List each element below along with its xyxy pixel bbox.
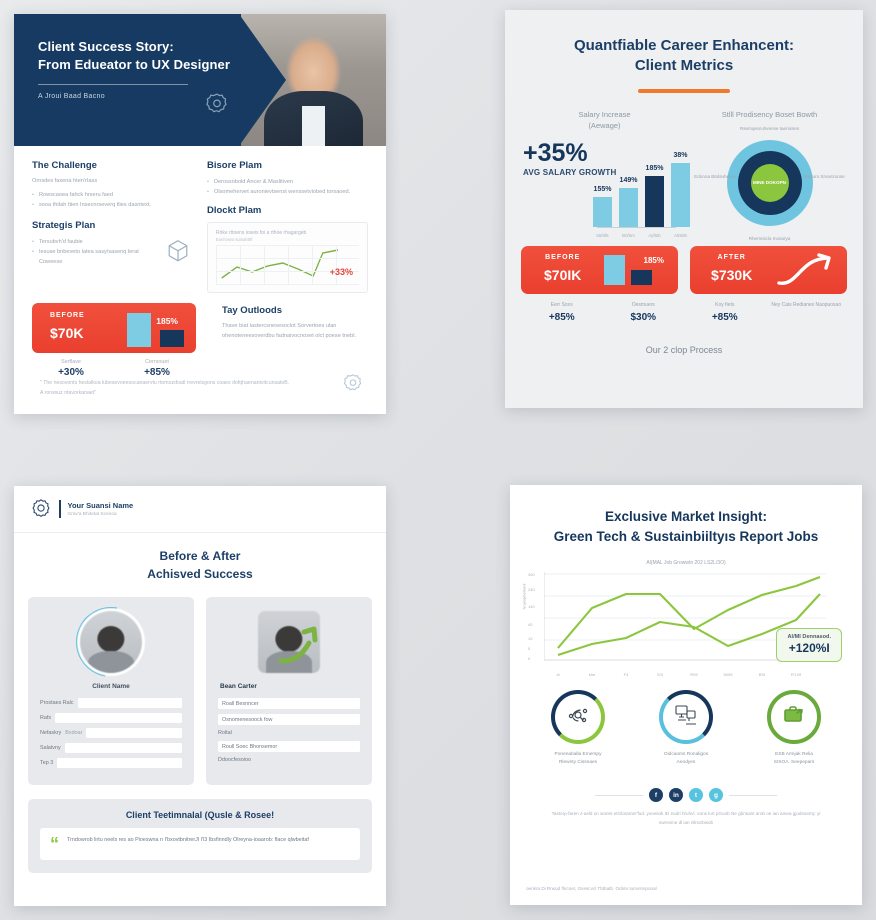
feature-label: ESB Armjak Relia SISOA. Seepepars	[749, 751, 839, 766]
kpi-value: +85%	[521, 312, 603, 323]
growth-arrow-icon	[775, 253, 837, 294]
ring-navy-sky	[659, 690, 713, 744]
x-tick: khe	[589, 672, 595, 677]
kpi-label: Serflave	[32, 359, 110, 365]
tr-metrics-grid: Salary Increase (Aewage) +35% AVG SALARY…	[505, 93, 863, 232]
red-card-bar-dark	[160, 330, 184, 347]
before-plan-heading: Bisore Plam	[207, 160, 368, 171]
bl-page-title: Before & After Achisved Success	[14, 533, 386, 583]
form-row[interactable]: Prostaes Ralc	[40, 698, 182, 708]
profile-name: Client Name	[40, 683, 182, 690]
tr-kpi-row: Eerr Sces +85% Oesmuers $30% Koy fiets +…	[505, 294, 863, 323]
chart-grid	[216, 245, 359, 285]
before-card-percent: 185%	[644, 256, 664, 265]
badge-icon	[30, 498, 52, 520]
feature-label: Ponenaballa Emerspy Rlewnty Cissnaes	[533, 751, 623, 766]
br-bottom-note: oenkra Di Rrwod flncoet, Gsescvcl Tbtbat…	[526, 886, 657, 891]
panel-market-insight[interactable]: Exclusive Market Insight: Green Tech & S…	[510, 485, 862, 905]
form-row[interactable]: Tep 3	[40, 758, 182, 768]
bar-value: 38%	[673, 152, 687, 159]
bl-title-line2: Achisved Success	[147, 567, 252, 581]
list-item: Olsomehervet auronievtsenst wenssetviobe…	[207, 187, 368, 197]
y-tick: 240	[528, 587, 535, 592]
before-after-card-row: BEFORE $70IK 185% AFTER $730K	[505, 232, 863, 294]
strategy-heading: Strategis Plan	[32, 220, 193, 231]
avatar-wrapper	[258, 611, 320, 673]
brand-text: Your Suansi Name Grav'a Bhitetat Scenoa	[68, 501, 134, 517]
salary-heading: Salary Increase (Aewage)	[519, 109, 690, 132]
hero-title-line1: Client Success Story:	[38, 39, 174, 54]
text-input[interactable]	[78, 698, 182, 708]
feature-item[interactable]: Oidcaoms Ronaligos Aeodyes	[641, 690, 731, 766]
salary-heading-l2: (Aewage)	[588, 121, 620, 130]
brand-name: Your Suansi Name	[68, 501, 134, 510]
brand-header: Your Suansi Name Grav'a Bhitetat Scenoa	[14, 486, 386, 533]
text-input[interactable]	[65, 743, 182, 753]
challenge-heading: The Challenge	[32, 160, 193, 171]
dlockt-heading: Dlockt Plam	[207, 205, 368, 216]
form-row[interactable]: Nefaskry Bxdoar	[40, 728, 182, 738]
text-input[interactable]	[86, 728, 182, 738]
testimonial-text: Trndowrob lirtu neels res ao Pioeswna n …	[67, 836, 309, 852]
callout-title: Al/MI Dennasod.	[787, 634, 831, 640]
br-page-title: Exclusive Market Insight: Green Tech & S…	[510, 485, 862, 546]
x-tick: S/3	[657, 672, 663, 677]
bar-chart-axis	[597, 227, 676, 228]
y-axis-label: Noytopbetnent	[522, 584, 527, 610]
kpi-item: Oesmuers $30%	[603, 302, 685, 323]
salary-increase-block: Salary Increase (Aewage) +35% AVG SALARY…	[519, 109, 690, 232]
kpi-label: Ney Cais Redianes Naopuosao	[766, 302, 848, 310]
field-label: Nefaskry	[40, 730, 61, 736]
divider-right	[729, 795, 777, 796]
before-plan-bullets: Derossobold Ancer & Maslitiven Olsomeher…	[207, 177, 368, 197]
panel-career-metrics[interactable]: Quantfiable Career Enhancent: Client Met…	[505, 10, 863, 408]
field-label: Roall Besnncer	[222, 701, 259, 707]
social-links-row: f in t g	[510, 788, 862, 802]
screens-icon	[673, 703, 699, 732]
kpi-item: Ney Cais Redianes Naopuosao	[766, 302, 848, 323]
kpi-item: Serflave +30%	[32, 359, 110, 378]
list-item: sooa thitah ttien Insecnrseverq tlies da…	[32, 200, 193, 210]
briefcase-icon	[781, 703, 807, 732]
growth-arrow-icon	[278, 624, 324, 671]
job-growth-line-chart: Noytopbetnent 260 240 140 40 10 5 0 di	[528, 572, 844, 668]
bar-column: 185% Ayf5tb	[645, 176, 664, 227]
form-row[interactable]: Rafs	[40, 713, 182, 723]
form-row[interactable]: Salatvny	[40, 743, 182, 753]
line-chart-title: Al(MAL Job Growwtn 202 LS2L/3O)	[510, 560, 862, 566]
text-input[interactable]: Osnomenesoock fow	[218, 714, 360, 725]
kpi-item: Eerr Sces +85%	[521, 302, 603, 323]
hero-divider	[38, 84, 188, 85]
tl-footnote: " The nesovonts heslalkoa lubesevoeesoca…	[40, 379, 290, 398]
challenge-lede: Ornsdes faxena hten'rIass	[32, 177, 193, 187]
bar-shape	[593, 197, 612, 227]
form-row: Ddoocfesoioo	[218, 757, 360, 763]
tl-kpi-row: Serflave +30% Cerrsouet +85%	[14, 353, 214, 378]
x-tick: di	[556, 672, 559, 677]
form-left: Prostaes Ralc Rafs Nefaskry Bxdoar Salat…	[40, 698, 182, 768]
y-tick: 140	[528, 604, 535, 609]
quote-icon: “	[50, 836, 59, 852]
kpi-label: Oesmuers	[603, 302, 685, 310]
br-footer-text: Tastorp-faren z-aeld on woriet etGlorame…	[544, 810, 828, 827]
ring-green	[767, 690, 821, 744]
donut-core: MINE DOKOPN	[751, 164, 789, 202]
kpi-value: +85%	[118, 367, 196, 378]
list-item: Rowscaoea fahck hrseru faed	[32, 190, 193, 200]
donut-rings: MINE DOKOPN	[727, 140, 813, 226]
before-card-bar-light	[604, 255, 625, 285]
infographic-canvas: Client Success Story:From Edueator to UX…	[0, 0, 876, 920]
salary-bar-chart: 155% 65/5f6 149% B0/5m 185% Ayf5tb	[519, 143, 690, 227]
list-item: Iesuse bnbeveto latea sasy/sasenq lerat …	[32, 247, 157, 267]
donut-label-top: Rsemqeoruhvense taenixses	[739, 126, 801, 132]
before-red-card[interactable]: BEFORE $70K 185%	[32, 303, 196, 353]
outlook-text: Thave biat lastercsnesesoclot Sorvertoes…	[222, 322, 370, 342]
before-card-label: BEFORE	[529, 254, 596, 261]
x-tick: R09	[690, 672, 697, 677]
field-sublabel: Bxdoar	[65, 730, 82, 736]
callout-value: +120%I	[787, 641, 831, 655]
testimonial-card[interactable]: “ Trndowrob lirtu neels res ao Pioeswna …	[40, 828, 360, 860]
field-label: Prostaes Ralc	[40, 700, 74, 706]
bar-shape	[645, 176, 664, 227]
y-tick: 0	[528, 656, 530, 661]
gear-icon	[204, 92, 230, 123]
testimonial-heading: Client Teetimnalal (Qusle & Rosee!	[40, 810, 360, 820]
brand-divider	[59, 500, 61, 518]
salary-heading-l1: Salary Increase	[578, 110, 630, 119]
bar-column: 149% B0/5m	[619, 188, 638, 227]
cube-icon	[163, 237, 193, 272]
testimonial-section: Client Teetimnalal (Qusle & Rosee! “ Trn…	[28, 799, 372, 873]
field-label: Ddoocfesoioo	[218, 757, 251, 763]
donut-label-right: Sasturo Srvanzoose	[793, 174, 855, 180]
red-card-label: BEFORE	[50, 312, 85, 319]
feature-icon-row: Ponenaballa Emerspy Rlewnty Cissnaes Oid…	[510, 668, 862, 766]
tr-page-title: Quantfiable Career Enhancent: Client Met…	[505, 10, 863, 77]
hero-text-block: Client Success Story:From Edueator to UX…	[38, 38, 248, 100]
field-label: Osnomenesoock fow	[222, 717, 272, 723]
field-label: Rafs	[40, 715, 51, 721]
form-row: Roltal	[218, 730, 360, 736]
kpi-value: +85%	[684, 312, 766, 323]
before-card-value: $70IK	[529, 267, 596, 283]
bar-category: 65/5f6	[596, 233, 608, 238]
mini-chart-percent: +33%	[330, 267, 353, 277]
proficiency-block: Stlll Prodisency Boset Bowth Rsemqeoruhv…	[690, 109, 849, 232]
bar-value: 155%	[594, 186, 612, 193]
tr-footer-text: Our 2 clop Process	[505, 345, 863, 355]
kpi-value: $30%	[603, 312, 685, 323]
bl-title-line1: Before & After	[160, 549, 241, 563]
feature-item[interactable]: ESB Armjak Relia SISOA. Seepepars	[749, 690, 839, 766]
x-tick: R'109	[791, 672, 801, 677]
bar-value: 149%	[620, 177, 638, 184]
bar-category: Att506	[674, 233, 687, 238]
social-twitter-icon[interactable]: t	[689, 788, 703, 802]
list-item: Tersubvh'd faubie	[32, 237, 157, 247]
y-tick: 5	[528, 646, 530, 651]
x-tick: F4	[624, 672, 629, 677]
form-row[interactable]: Osnomenesoock fow	[218, 714, 360, 725]
after-card[interactable]: AFTER $730K	[690, 246, 847, 294]
hero-banner: Client Success Story:From Edueator to UX…	[14, 14, 386, 146]
proficiency-donut-chart: Rsemqeoruhvense taenixses MINE DOKOPN Ed…	[690, 124, 849, 232]
bar-shape	[671, 163, 690, 227]
feature-label: Oidcaoms Ronaligos Aeodyes	[641, 751, 731, 766]
donut-label-left: Edonoa Bitdsuheare	[684, 174, 746, 180]
feature-label-l2: SISOA. Seepepars	[774, 760, 815, 765]
after-card-label: AFTER	[698, 254, 765, 261]
strategy-bullets: Tersubvh'd faubie Iesuse bnbeveto latea …	[32, 237, 157, 267]
tr-title-line1: Quantfiable Career Enhancent:	[574, 37, 794, 54]
list-item: Derossobold Ancer & Maslitiven	[207, 177, 368, 187]
mini-chart-subtitle: Eorii'oseo suinahthf	[216, 237, 359, 243]
br-title-line1: Exclusive Market Insight:	[605, 509, 767, 524]
y-tick: 260	[528, 572, 535, 577]
field-label: Salatvny	[40, 745, 61, 751]
before-card[interactable]: BEFORE $70IK 185%	[521, 246, 678, 294]
outlook-heading: Tay Outloods	[222, 305, 370, 316]
feature-label-l2: Aeodyes	[677, 760, 696, 765]
avatar	[80, 611, 142, 673]
bar-column: 38% Att506	[671, 163, 690, 227]
avatar-wrapper	[80, 611, 142, 673]
kpi-label: Koy fiets	[684, 302, 766, 310]
brand-tagline: Grav'a Bhitetat Scenoa	[68, 512, 134, 517]
before-card-bar-dark	[631, 270, 652, 285]
text-input[interactable]	[57, 758, 182, 768]
kpi-item: Koy fiets +85%	[684, 302, 766, 323]
social-linkedin-icon[interactable]: in	[669, 788, 683, 802]
form-row[interactable]: Roall Besnncer	[218, 698, 360, 709]
red-card-percent: 185%	[156, 316, 178, 326]
social-facebook-icon[interactable]: f	[649, 788, 663, 802]
ring-navy-green	[551, 690, 605, 744]
gear-icon	[342, 373, 364, 400]
text-input[interactable]: Roull Soec Bhonsemor	[218, 741, 360, 752]
mini-sparkline-chart: +33%	[216, 245, 359, 285]
bar-column: 155% 65/5f6	[593, 197, 612, 227]
demand-callout-badge: Al/MI Dennasod. +120%I	[776, 628, 842, 662]
donut-label-bottom: Rhernisicla Inosarya	[739, 236, 801, 242]
bar-category: B0/5m	[622, 233, 635, 238]
after-card-value: $730K	[698, 267, 765, 283]
atom-icon	[566, 703, 590, 732]
dlockt-mini-chart-card[interactable]: Rrike rttoens ioseis foi a rthoe rhagarg…	[207, 222, 368, 293]
tl-left-column: The Challenge Ornsdes faxena hten'rIass …	[32, 160, 193, 293]
tl-right-column: Bisore Plam Derossobold Ancer & Maslitiv…	[207, 160, 368, 293]
panel-before-after-form[interactable]: Your Suansi Name Grav'a Bhitetat Scenoa …	[14, 486, 386, 906]
proficiency-heading: Stlll Prodisency Boset Bowth	[690, 109, 849, 120]
red-card-value: $70K	[50, 325, 83, 341]
kpi-value: +30%	[32, 367, 110, 378]
br-title-line2: Green Tech & Sustainbiiltyıs Report Jobs	[554, 529, 819, 544]
profile-name: Bean Carter	[218, 683, 360, 690]
form-right: Roall Besnncer Osnomenesoock fow Roltal …	[218, 698, 360, 763]
bar-shape	[619, 188, 638, 227]
bar-category: Ayf5tb	[648, 233, 660, 238]
kpi-label: Cerrsouet	[118, 359, 196, 365]
feature-label-l1: Oidcaoms Ronaligos	[664, 752, 708, 757]
profile-card-before[interactable]: Client Name Prostaes Ralc Rafs Nefaskry …	[28, 597, 194, 785]
text-input[interactable]	[55, 713, 182, 723]
y-tick: 10	[528, 636, 532, 641]
profile-card-row: Client Name Prostaes Ralc Rafs Nefaskry …	[14, 583, 386, 785]
x-tick: B'l0	[759, 672, 766, 677]
form-row[interactable]: Roull Soec Bhonsemor	[218, 741, 360, 752]
feature-label-l1: Ponenaballa Emerspy	[555, 752, 602, 757]
kpi-item: Cerrsouet +85%	[118, 359, 196, 378]
x-tick: 5099	[724, 672, 733, 677]
feature-item[interactable]: Ponenaballa Emerspy Rlewnty Cissnaes	[533, 690, 623, 766]
field-label: Roull Soec Bhonsemor	[222, 744, 277, 750]
hero-title-line2: From Edueator to UX Designer	[38, 57, 230, 72]
social-google-icon[interactable]: g	[709, 788, 723, 802]
red-card-bar-light	[127, 313, 151, 347]
kpi-label: Eerr Sces	[521, 302, 603, 310]
tl-content-grid: The Challenge Ornsdes faxena hten'rIass …	[14, 146, 386, 293]
tr-title-line2: Client Metrics	[635, 57, 733, 74]
profile-card-after[interactable]: Bean Carter Roall Besnncer Osnomenesoock…	[206, 597, 372, 785]
panel-client-success-story[interactable]: Client Success Story:From Edueator to UX…	[14, 14, 386, 414]
field-label: Tep 3	[40, 760, 53, 766]
text-input[interactable]: Roall Besnncer	[218, 698, 360, 709]
y-tick: 40	[528, 622, 532, 627]
challenge-bullets: Rowscaoea fahck hrseru faed sooa thitah …	[32, 190, 193, 210]
bar-value: 185%	[646, 165, 664, 172]
divider-left	[595, 795, 643, 796]
feature-label-l1: ESB Armjak Relia	[775, 752, 813, 757]
feature-label-l2: Rlewnty Cissnaes	[559, 760, 597, 765]
donut-center-label: MINE DOKOPN	[753, 180, 786, 186]
mini-chart-title: Rrike rttoens ioseis foi a rthoe rhagarg…	[216, 230, 359, 236]
field-label: Roltal	[218, 730, 232, 736]
